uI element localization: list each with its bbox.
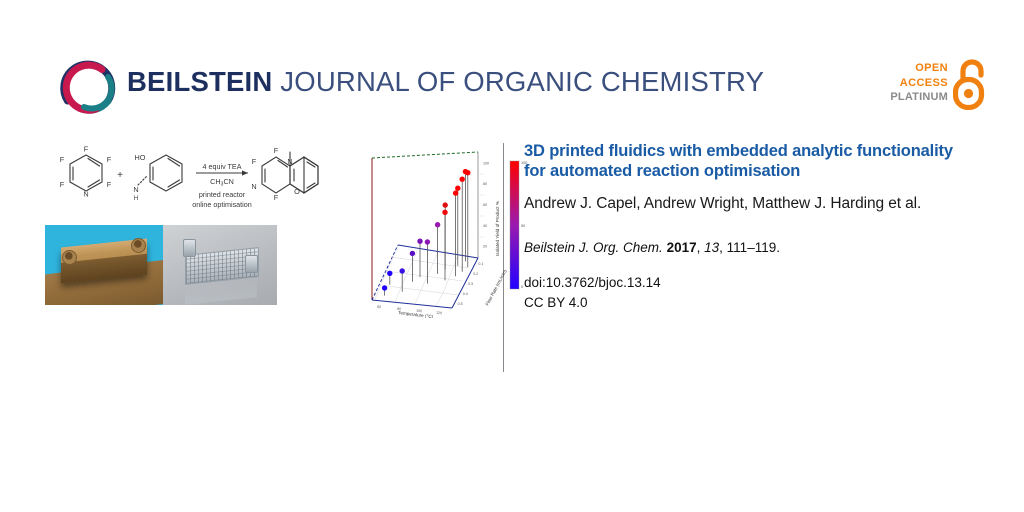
z-tick-label: 60 [483, 203, 487, 207]
colorbar [510, 161, 519, 289]
svg-text:H: H [134, 195, 138, 202]
oa-line-platinum: PLATINUM [872, 90, 948, 105]
scheme-conditions-2: CH3CN [210, 177, 234, 188]
svg-text:F: F [252, 157, 257, 166]
citation-pages: 111–119. [727, 240, 780, 255]
svg-text:O: O [294, 187, 300, 196]
y-tick-label: 0.5 [458, 302, 463, 306]
svg-text:F: F [107, 155, 112, 164]
svg-text:HO: HO [135, 153, 146, 162]
article-authors: Andrew J. Capel, Andrew Wright, Matthew … [524, 193, 956, 214]
yield-optimisation-3d-plot: 6080100120 0.10.20.30.40.5 20406080100 T… [360, 140, 530, 318]
open-access-badge: OPEN ACCESS PLATINUM [872, 58, 990, 116]
data-point [442, 210, 447, 215]
z-tick-label: 20 [483, 245, 487, 249]
cad-model-render [163, 225, 277, 305]
svg-text:N: N [251, 182, 256, 191]
y-tick-label: 0.1 [478, 262, 483, 266]
svg-text:N: N [133, 185, 138, 194]
colorbar-tick-label: 0 [521, 285, 523, 289]
svg-text:N: N [287, 157, 292, 166]
z-tick-label: 100 [483, 161, 489, 165]
z-tick-label: 40 [483, 224, 487, 228]
oa-line-access: ACCESS [872, 76, 948, 91]
citation-journal: Beilstein J. Org. Chem. [524, 240, 663, 255]
svg-text:F: F [84, 145, 89, 154]
reactor-port-inlet [62, 250, 77, 265]
x-tick-label: 60 [377, 305, 381, 309]
article-info-column: 3D printed fluidics with embedded analyt… [524, 142, 956, 312]
data-point [465, 170, 470, 175]
reaction-scheme: F F F F F N + HO [48, 142, 330, 220]
citation-year: 2017 [667, 240, 697, 255]
article-doi[interactable]: doi:10.3762/bjoc.13.14 [524, 273, 956, 293]
journal-wordmark: BEILSTEIN JOURNAL OF ORGANIC CHEMISTRY [127, 68, 764, 96]
scheme-conditions-3: printed reactor [199, 190, 246, 199]
scheme-conditions-1: 4 equiv TEA [202, 162, 241, 171]
data-point [382, 285, 387, 290]
open-access-label: OPEN ACCESS PLATINUM [872, 61, 948, 105]
article-doi-block: doi:10.3762/bjoc.13.14 CC BY 4.0 [524, 273, 956, 312]
x-tick-label: 120 [436, 311, 442, 316]
oa-line-open: OPEN [872, 61, 948, 76]
article-license[interactable]: CC BY 4.0 [524, 293, 956, 313]
z-tick-label: 80 [483, 182, 487, 186]
data-point [453, 190, 458, 195]
data-point [417, 239, 422, 244]
y-axis-label: Flow Rate (mL/min) [484, 268, 507, 306]
svg-text:F: F [60, 155, 65, 164]
wordmark-bold: BEILSTEIN [127, 66, 272, 97]
data-point [387, 271, 392, 276]
data-point [443, 202, 448, 207]
svg-text:F: F [107, 180, 112, 189]
data-point [410, 251, 415, 256]
photo-row [45, 225, 277, 305]
x-axis-label: Temperature (°C) [398, 310, 434, 318]
svg-text:N: N [83, 190, 88, 199]
article-teaser-card: BEILSTEIN JOURNAL OF ORGANIC CHEMISTRY O… [0, 0, 1024, 512]
cad-port-outlet [245, 255, 258, 273]
cad-port-inlet [183, 239, 196, 257]
z-axis-label: Isolated Yield of Product % [495, 201, 500, 256]
wordmark-light: JOURNAL OF ORGANIC CHEMISTRY [280, 66, 764, 97]
scheme-conditions-4: online optimisation [192, 200, 252, 209]
data-point [425, 239, 430, 244]
open-lock-icon [953, 58, 990, 110]
y-tick-label: 0.4 [463, 292, 468, 296]
citation-volume: 13 [704, 240, 719, 255]
y-tick-label: 0.2 [473, 272, 478, 276]
svg-text:F: F [274, 146, 279, 155]
article-citation: Beilstein J. Org. Chem. 2017, 13, 111–11… [524, 239, 956, 257]
printed-reactor-photo [45, 225, 163, 305]
svg-text:F: F [274, 193, 279, 202]
y-tick-label: 0.3 [468, 282, 473, 286]
svg-text:F: F [60, 180, 65, 189]
beilstein-swirl-logo [58, 57, 122, 119]
reactor-port-outlet [131, 238, 146, 253]
graphical-abstract: F F F F F N + HO [40, 140, 490, 320]
journal-header: BEILSTEIN JOURNAL OF ORGANIC CHEMISTRY O… [0, 0, 1024, 130]
data-point [435, 222, 440, 227]
data-point [455, 186, 460, 191]
article-title[interactable]: 3D printed fluidics with embedded analyt… [524, 142, 956, 181]
data-point [460, 177, 465, 182]
data-point [400, 268, 405, 273]
svg-text:+: + [117, 170, 123, 181]
